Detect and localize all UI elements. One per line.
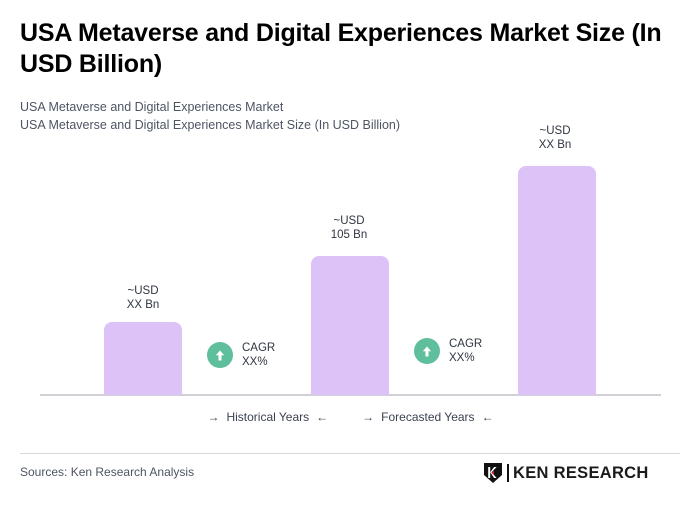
bar-label-historical: ~USD XX Bn — [88, 284, 198, 312]
period-label: Forecasted Years — [381, 410, 474, 424]
logo-divider-icon — [507, 464, 509, 482]
period-label: Historical Years — [226, 410, 309, 424]
cagr-annotation-forecast: CAGR XX% — [414, 337, 482, 365]
cagr-value: XX% — [242, 355, 275, 369]
cagr-annotation-historical: CAGR XX% — [207, 341, 275, 369]
bar-current[interactable] — [311, 256, 389, 395]
logo-wordmark: KEN RESEARCH — [513, 465, 649, 482]
bar-label-currency: ~USD — [500, 124, 610, 138]
arrow-left-icon: ← — [316, 411, 328, 423]
cagr-label: CAGR XX% — [449, 337, 482, 365]
period-legend: → Historical Years ← → Forecasted Years … — [40, 410, 661, 424]
bar-label-value: XX Bn — [500, 138, 610, 152]
bar-label-currency: ~USD — [88, 284, 198, 298]
sources-text: Sources: Ken Research Analysis — [20, 465, 194, 479]
chart-slide: USA Metaverse and Digital Experiences Ma… — [0, 0, 700, 520]
bar-label-current: ~USD 105 Bn — [294, 214, 404, 242]
cagr-title: CAGR — [242, 341, 275, 355]
ken-research-logo: KEN RESEARCH — [483, 462, 649, 484]
period-historical: → Historical Years ← — [207, 410, 328, 424]
cagr-title: CAGR — [449, 337, 482, 351]
bar-label-value: 105 Bn — [294, 228, 404, 242]
period-forecasted: → Forecasted Years ← — [362, 410, 493, 424]
bar-label-forecast: ~USD XX Bn — [500, 124, 610, 152]
arrow-up-icon — [207, 342, 233, 368]
arrow-left-icon: ← — [482, 411, 494, 423]
arrow-right-icon: → — [362, 411, 374, 423]
arrow-up-icon — [414, 338, 440, 364]
arrow-right-icon: → — [207, 411, 219, 423]
bar-label-value: XX Bn — [88, 298, 198, 312]
footer-divider — [20, 453, 680, 454]
shield-logo-icon — [483, 462, 503, 484]
bar-forecast[interactable] — [518, 166, 596, 395]
bar-label-currency: ~USD — [294, 214, 404, 228]
bar-historical[interactable] — [104, 322, 182, 395]
cagr-label: CAGR XX% — [242, 341, 275, 369]
chart-plot-area: ~USD XX Bn ~USD 105 Bn ~USD XX Bn CAGR X… — [0, 0, 700, 400]
cagr-value: XX% — [449, 351, 482, 365]
